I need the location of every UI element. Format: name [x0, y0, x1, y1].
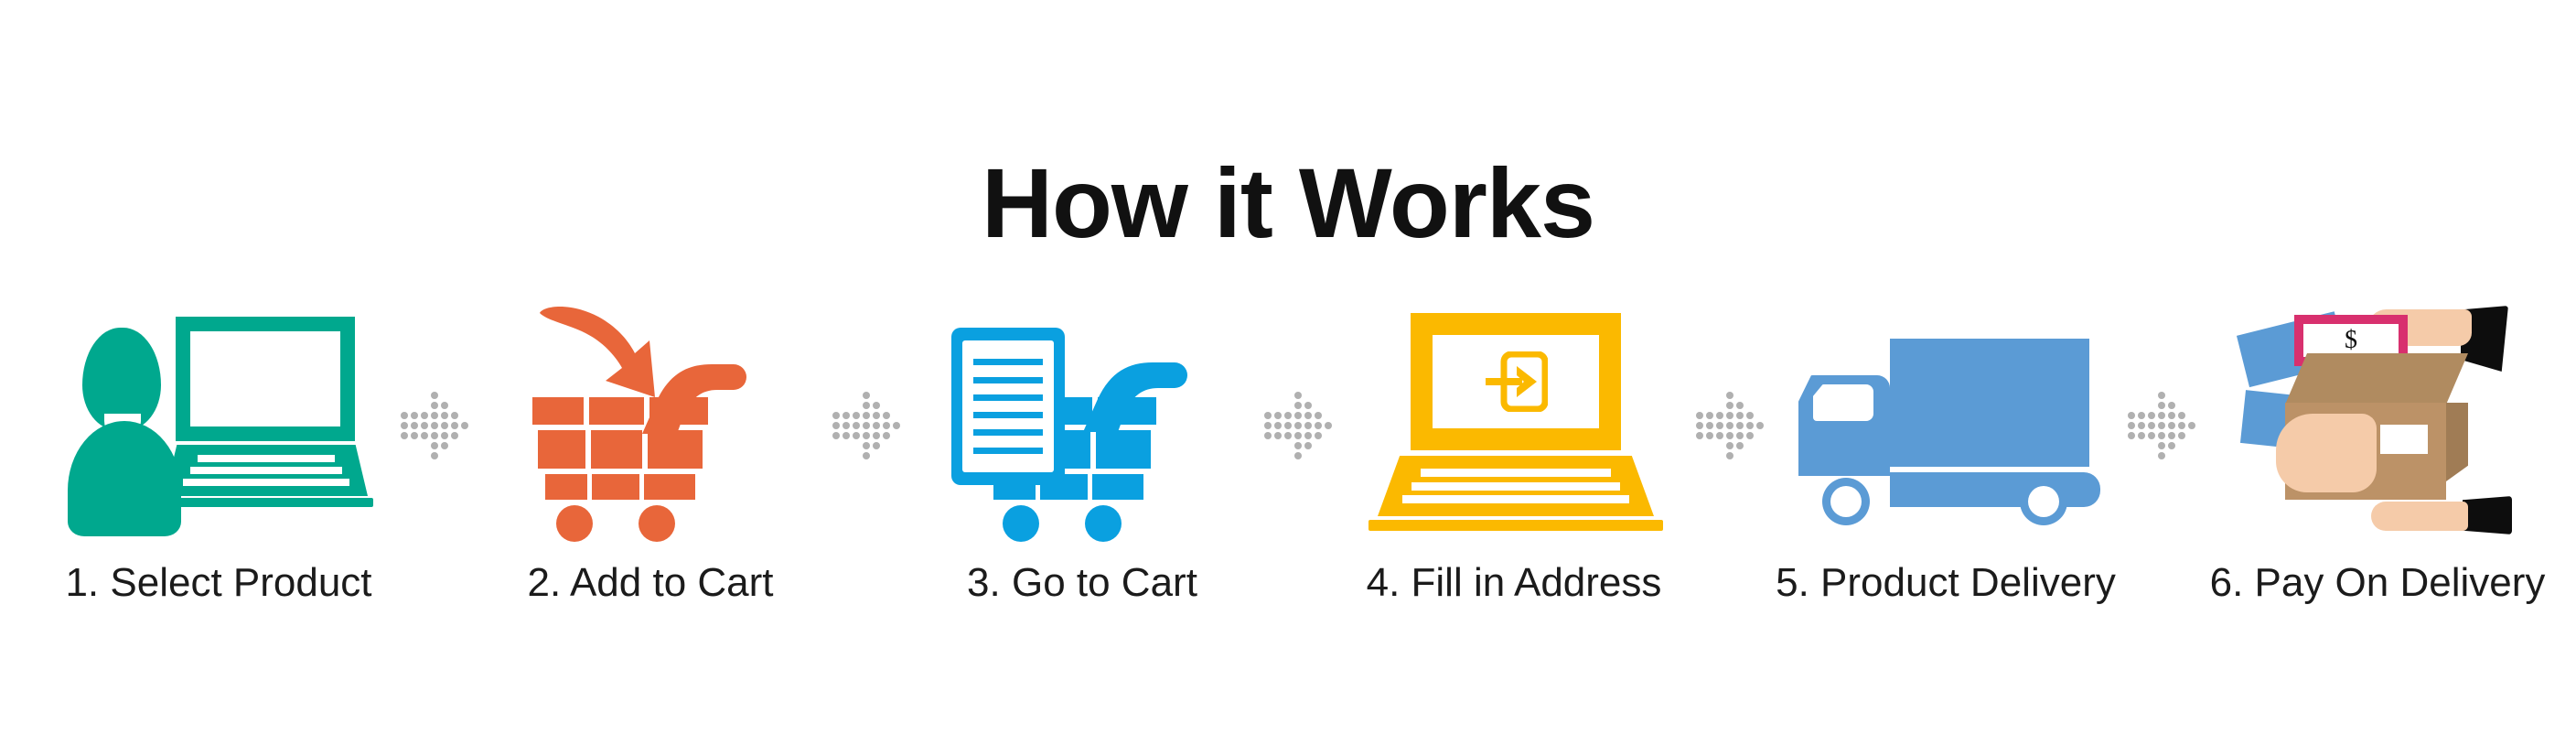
step-2-add-to-cart[interactable]: 2. Add to Cart: [474, 302, 827, 668]
separator-4: [1690, 302, 1769, 668]
hands-exchanging-box-and-cash-icon: $: [2201, 302, 2554, 540]
document-with-shopping-cart-icon: [906, 302, 1259, 540]
cart-basket-row: [538, 430, 703, 469]
dotted-arrow-right-icon: [2126, 390, 2197, 461]
truck-window: [1813, 384, 1873, 421]
step-6-pay-on-delivery[interactable]: $ 6. Pay On Delivery: [2201, 302, 2554, 668]
cart-basket-row: [532, 397, 708, 425]
courier-cuff-bottom: [2463, 496, 2512, 534]
truck-chassis: [1890, 472, 2100, 507]
step-4-label: 4. Fill in Address: [1367, 562, 1662, 604]
cart-wheel-left: [556, 505, 593, 542]
cart-basket-row: [545, 474, 695, 500]
cart-wheel-left: [1003, 505, 1039, 542]
cart-wheel-right: [639, 505, 675, 542]
laptop-keyboard: [165, 445, 368, 496]
person-body: [68, 421, 181, 536]
laptop-with-login-arrow-icon: [1337, 302, 1690, 540]
truck-wheel-front: [1822, 478, 1870, 525]
step-2-label: 2. Add to Cart: [527, 562, 773, 604]
step-6-label: 6. Pay On Delivery: [2210, 562, 2546, 604]
how-it-works-infographic: How it Works: [0, 0, 2576, 745]
dotted-arrow-right-icon: [1694, 390, 1766, 461]
document-lines: [962, 340, 1054, 472]
step-3-go-to-cart[interactable]: 3. Go to Cart: [906, 302, 1259, 668]
dotted-arrow-right-icon: [831, 390, 902, 461]
dotted-arrow-right-icon: [1262, 390, 1334, 461]
step-1-label: 1. Select Product: [65, 562, 371, 604]
step-1-select-product[interactable]: 1. Select Product: [42, 302, 395, 668]
steps-row: 1. Select Product: [42, 302, 2534, 668]
package-box-side: [2446, 403, 2468, 481]
laptop-base: [1368, 520, 1663, 531]
cart-wheel-right: [1085, 505, 1122, 542]
truck-wheel-rear: [2020, 478, 2067, 525]
package-box-top: [2285, 353, 2468, 405]
step-5-label: 5. Product Delivery: [1776, 562, 2116, 604]
cart-basket: [532, 397, 708, 500]
laptop-keyboard: [1378, 456, 1654, 516]
step-3-label: 3. Go to Cart: [967, 562, 1197, 604]
separator-1: [395, 302, 474, 668]
person-at-laptop-icon: [42, 302, 395, 540]
step-5-product-delivery[interactable]: 5. Product Delivery: [1769, 302, 2122, 668]
laptop-screen-display: [1433, 335, 1599, 428]
laptop-base: [159, 498, 373, 507]
separator-5: [2122, 302, 2201, 668]
separator-2: [827, 302, 906, 668]
delivery-truck-icon: [1769, 302, 2122, 540]
title-bar: How it Works: [0, 88, 2576, 319]
step-4-fill-in-address[interactable]: 4. Fill in Address: [1337, 302, 1690, 668]
page-title: How it Works: [982, 154, 1594, 253]
arrow-into-shopping-cart-icon: [474, 302, 827, 540]
laptop-screen-display: [190, 331, 340, 426]
laptop-key-rows: [1378, 463, 1654, 509]
laptop-screen: [176, 317, 355, 441]
laptop-key-rows: [165, 450, 368, 491]
courier-hand-bottom: [2371, 502, 2468, 531]
laptop-screen: [1411, 313, 1621, 450]
dotted-arrow-right-icon: [399, 390, 470, 461]
document-icon: [951, 328, 1065, 485]
dollar-symbol: $: [2345, 328, 2357, 353]
package-shipping-label: [2380, 425, 2428, 454]
truck-cargo-box: [1890, 339, 2089, 467]
login-arrow-icon: [1484, 351, 1548, 412]
separator-3: [1259, 302, 1337, 668]
